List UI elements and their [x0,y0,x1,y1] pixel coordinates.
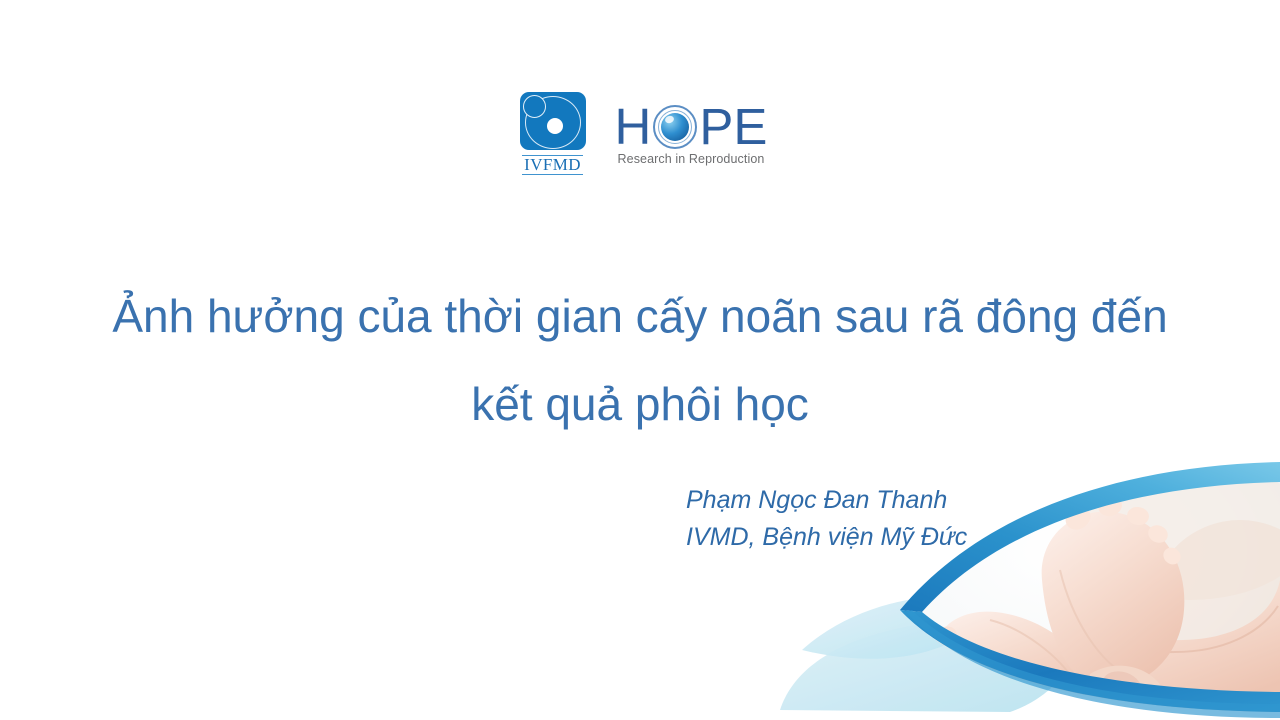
ivfmd-small-circle-outline [523,95,546,118]
hope-logo: H PE Research in Reproduction [615,92,768,166]
title-line-1: Ảnh hưởng của thời gian cấy noãn sau rã … [60,272,1220,360]
ivfmd-logo: IVFMD [513,92,593,175]
author-affiliation: IVMD, Bệnh viện Mỹ Đức [686,519,967,556]
author-block: Phạm Ngọc Đan Thanh IVMD, Bệnh viện Mỹ Đ… [686,482,967,556]
adult-hand [1060,580,1280,716]
logo-bar: IVFMD H PE Research in Reproduction [0,92,1280,175]
hope-letters-pe: PE [699,104,767,150]
adult-thumb [1090,666,1165,717]
author-name: Phạm Ngọc Đan Thanh [686,482,967,519]
leaf-shape-back [780,618,1072,712]
hope-tagline: Research in Reproduction [618,152,765,166]
title-line-2: kết quả phôi học [60,360,1220,448]
baby-foot-left [929,612,1092,712]
baby-foot-right [1042,493,1185,688]
leaf-shapes [780,595,1072,712]
hope-eye-icon [652,104,698,150]
hope-wordmark: H PE [615,104,768,150]
hope-letter-h: H [615,104,652,150]
ivfmd-mark-icon [516,92,590,154]
leaf-shape-front [802,595,1000,659]
page-title: Ảnh hưởng của thời gian cấy noãn sau rã … [60,272,1220,448]
title-slide: IVFMD H PE Research in Reproduction Ảnh … [0,0,1280,720]
ivfmd-white-dot [547,118,563,134]
ivfmd-wordmark: IVFMD [522,155,583,175]
